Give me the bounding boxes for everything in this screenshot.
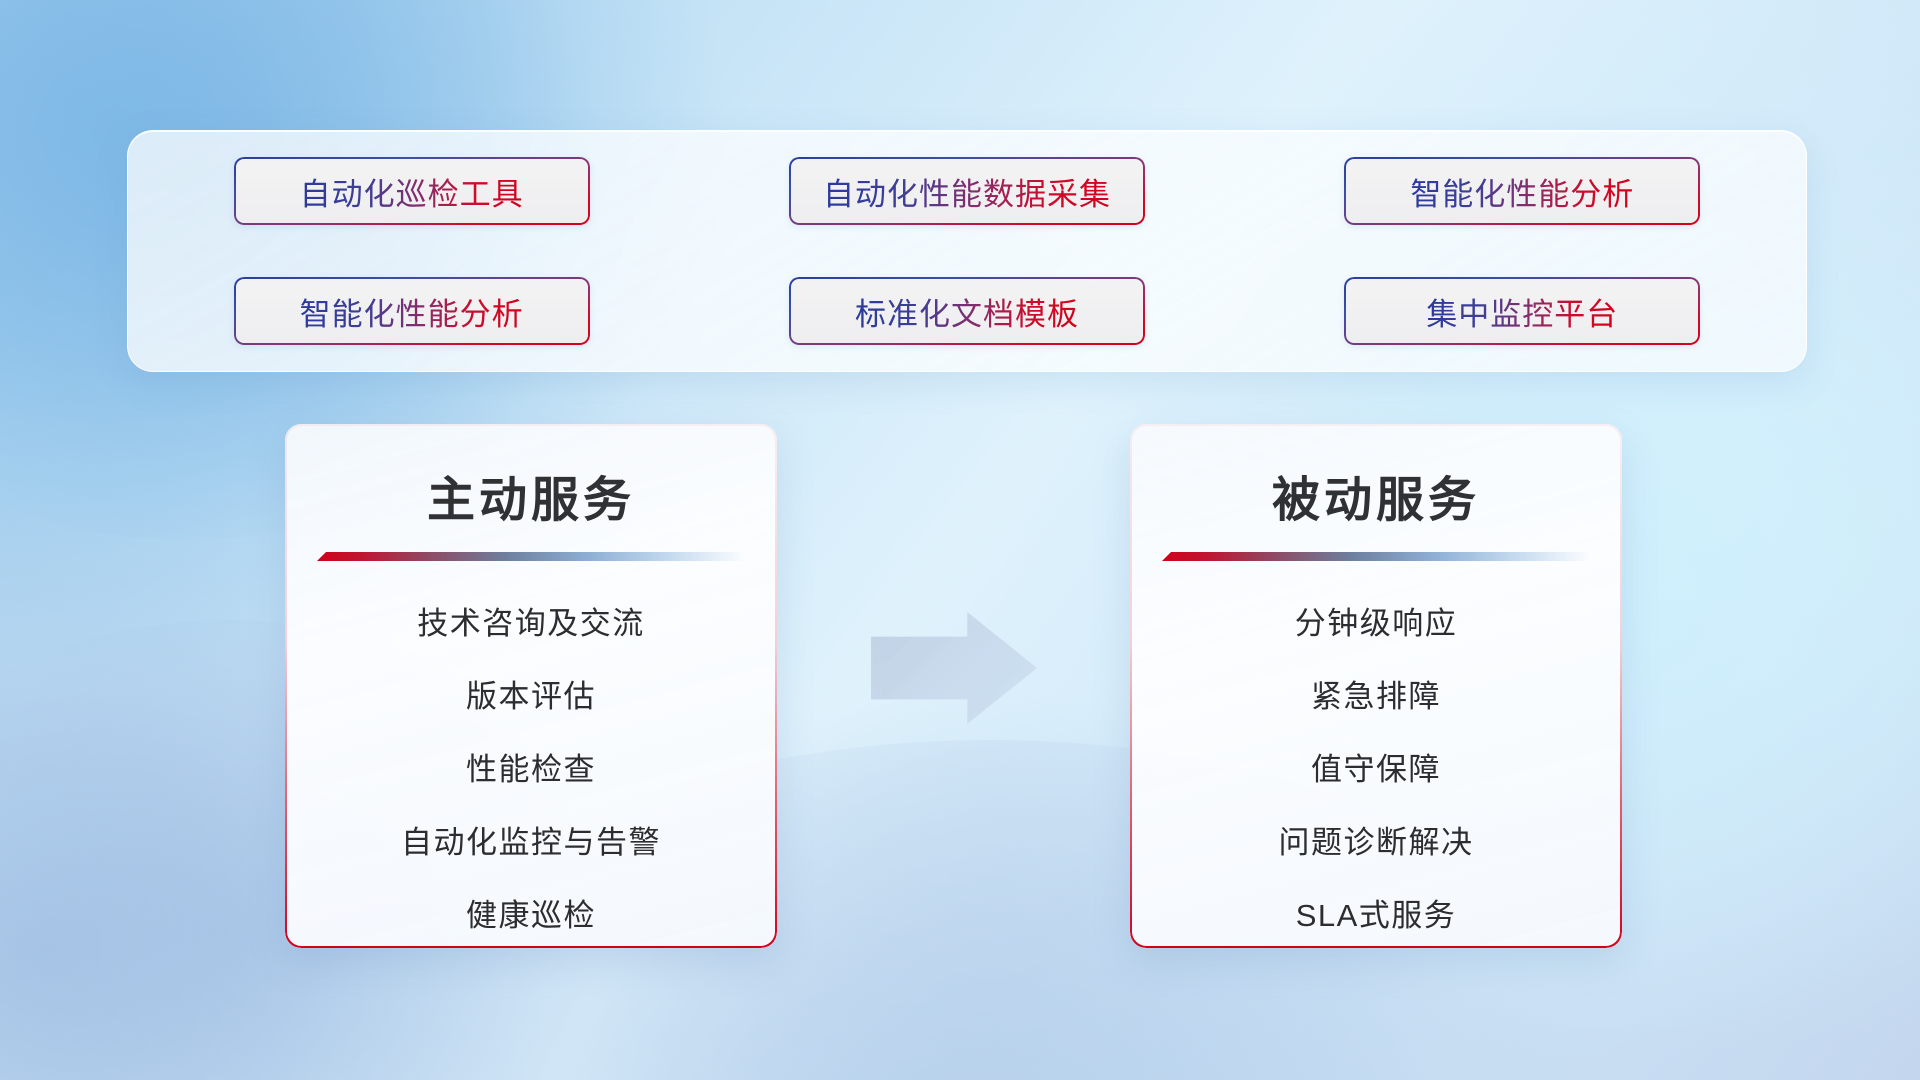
card-passive-service[interactable]: 被动服务 分钟级响应 紧急排障 值守保障 问题诊断解决 SLA式服务 [1130, 424, 1622, 948]
capability-pill-label: 智能化性能分析 [1410, 169, 1634, 214]
list-item: 健康巡检 [466, 879, 596, 948]
title-underline-rule [317, 552, 745, 561]
capability-pill-2[interactable]: 自动化性能数据采集 [789, 157, 1145, 225]
list-item: 紧急排障 [1311, 660, 1441, 733]
title-underline-rule [1162, 552, 1590, 561]
list-item: 性能检查 [466, 733, 596, 806]
arrow-right-icon [871, 612, 1037, 724]
capability-pill-label: 智能化性能分析 [300, 289, 524, 334]
capability-pill-6[interactable]: 集中监控平台 [1344, 277, 1700, 345]
list-item: 自动化监控与告警 [401, 806, 661, 879]
capabilities-panel: 自动化巡检工具 自动化性能数据采集 智能化性能分析 智能化性能分析 标准化文档模… [127, 130, 1807, 372]
card-active-service[interactable]: 主动服务 技术咨询及交流 版本评估 性能检查 自动化监控与告警 健康巡检 [285, 424, 777, 948]
list-item: 版本评估 [466, 660, 596, 733]
capability-pill-label: 自动化性能数据采集 [823, 169, 1111, 214]
capability-pill-label: 自动化巡检工具 [300, 169, 524, 214]
card-title: 主动服务 [285, 460, 777, 530]
card-list: 分钟级响应 紧急排障 值守保障 问题诊断解决 SLA式服务 [1130, 587, 1622, 948]
capability-pill-3[interactable]: 智能化性能分析 [1344, 157, 1700, 225]
capability-pill-5[interactable]: 标准化文档模板 [789, 277, 1145, 345]
list-item: 分钟级响应 [1295, 587, 1458, 660]
list-item: 值守保障 [1311, 733, 1441, 806]
capability-pill-4[interactable]: 智能化性能分析 [234, 277, 590, 345]
list-item: 技术咨询及交流 [417, 587, 645, 660]
slide-canvas: 自动化巡检工具 自动化性能数据采集 智能化性能分析 智能化性能分析 标准化文档模… [0, 0, 1920, 1080]
card-list: 技术咨询及交流 版本评估 性能检查 自动化监控与告警 健康巡检 [285, 587, 777, 948]
capability-pill-1[interactable]: 自动化巡检工具 [234, 157, 590, 225]
list-item: SLA式服务 [1296, 879, 1457, 948]
capability-pill-label: 集中监控平台 [1426, 289, 1618, 334]
list-item: 问题诊断解决 [1279, 806, 1474, 879]
capability-pill-label: 标准化文档模板 [855, 289, 1079, 334]
card-title: 被动服务 [1130, 460, 1622, 530]
